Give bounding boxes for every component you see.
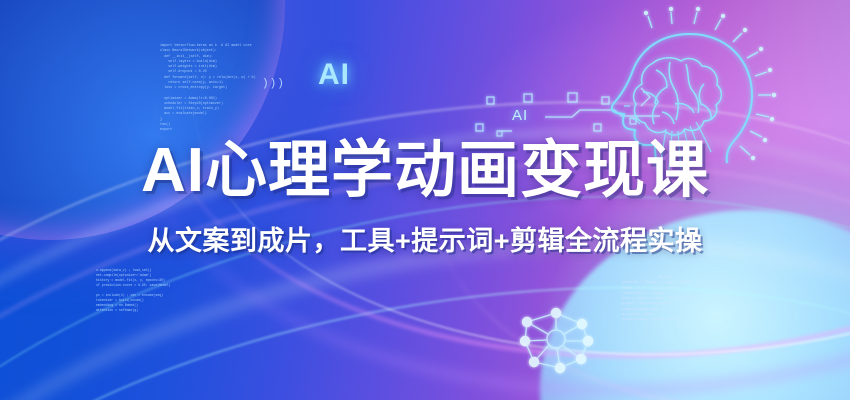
code-snippet-bottom-left: x.append(data_v) ; load_set() net.compil… — [96, 268, 171, 313]
page-title: AI心理学动画变现课 — [0, 140, 850, 202]
circuit-trace-icon — [476, 88, 660, 136]
ai-label-small: AI — [512, 107, 528, 124]
ai-label-large: AI — [318, 58, 350, 92]
code-braces: ))) — [262, 78, 285, 90]
code-snippet-right: . ai core . pipeline = Stage(v) img = re… — [622, 276, 693, 323]
code-snippet-top-left: import tensorflow.keras as k # AI model … — [160, 44, 256, 134]
ai-course-banner: import tensorflow.keras as k # AI model … — [0, 0, 850, 400]
page-subtitle: 从文案到成片，工具+提示词+剪辑全流程实操 — [0, 219, 850, 258]
